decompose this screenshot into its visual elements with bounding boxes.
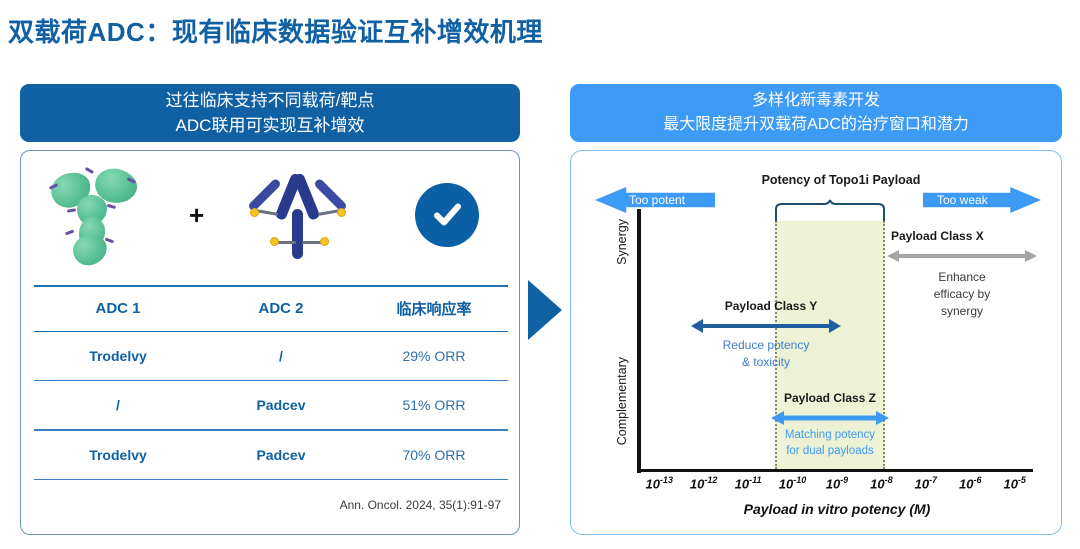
cell-adc1: Trodelvy bbox=[34, 348, 202, 364]
antibody-cell bbox=[224, 165, 373, 265]
x-tick-base: 10 bbox=[690, 476, 704, 491]
x-tick-exp: -9 bbox=[840, 475, 848, 485]
range-bracket-icon bbox=[774, 199, 886, 221]
table-header-response: 临床响应率 bbox=[360, 298, 508, 319]
cell-adc1: / bbox=[34, 397, 202, 413]
clinical-response-table: ADC 1 ADC 2 临床响应率 Trodelvy / 29% ORR / P… bbox=[34, 285, 508, 480]
x-axis-ticks: 10-13 10-12 10-11 10-10 10-9 10-8 10-7 1… bbox=[637, 475, 1037, 491]
x-tick-base: 10 bbox=[826, 476, 840, 491]
x-tick: 10-13 bbox=[637, 475, 681, 491]
x-tick-exp: -13 bbox=[660, 475, 673, 485]
right-panel-body: Potency of Topo1i Payload Too potent Too… bbox=[570, 150, 1062, 535]
payload-class-x-text: Enhance efficacy by synergy bbox=[887, 269, 1037, 320]
right-header-line2: 最大限度提升双载荷ADC的治疗窗口和潜力 bbox=[663, 113, 969, 137]
cell-adc1: Trodelvy bbox=[34, 447, 202, 463]
right-panel-header: 多样化新毒素开发 最大限度提升双载荷ADC的治疗窗口和潜力 bbox=[570, 84, 1062, 142]
page-title: 双载荷ADC：现有临床数据验证互补增效机理 bbox=[8, 12, 543, 49]
x-tick-base: 10 bbox=[870, 476, 884, 491]
x-tick-base: 10 bbox=[915, 476, 929, 491]
too-weak-label: Too weak bbox=[937, 193, 988, 207]
pcx-line1: Enhance bbox=[887, 269, 1037, 286]
antibody-icon bbox=[248, 165, 348, 265]
x-tick-base: 10 bbox=[779, 476, 793, 491]
cell-adc2: Padcev bbox=[202, 397, 360, 413]
pcx-line3: synergy bbox=[887, 303, 1037, 320]
x-tick: 10-11 bbox=[726, 475, 770, 491]
citation-text: Ann. Oncol. 2024, 35(1):91-97 bbox=[340, 498, 501, 512]
x-tick-base: 10 bbox=[735, 476, 749, 491]
cell-response: 29% ORR bbox=[360, 348, 508, 364]
left-panel-body: + bbox=[20, 150, 520, 535]
potency-chart: Potency of Topo1i Payload Too potent Too… bbox=[571, 151, 1061, 534]
x-tick-exp: -10 bbox=[793, 475, 806, 485]
x-tick: 10-12 bbox=[681, 475, 725, 491]
table-divider bbox=[34, 479, 508, 480]
x-tick-base: 10 bbox=[1003, 476, 1017, 491]
slide-root: 双载荷ADC：现有临床数据验证互补增效机理 过往临床支持不同载荷/靶点 ADC联… bbox=[0, 0, 1080, 549]
too-potent-label: Too potent bbox=[629, 193, 685, 207]
adc-molecule-cell bbox=[21, 165, 170, 265]
x-tick: 10-10 bbox=[770, 475, 814, 491]
x-tick-exp: -12 bbox=[704, 475, 717, 485]
check-cell bbox=[372, 183, 521, 247]
payload-class-z-label: Payload Class Z bbox=[775, 391, 885, 405]
table-row: / Padcev 51% ORR bbox=[34, 381, 508, 429]
check-circle-icon bbox=[415, 183, 479, 247]
x-tick-exp: -8 bbox=[885, 475, 893, 485]
x-tick-exp: -5 bbox=[1018, 475, 1026, 485]
pcy-line2: & toxicity bbox=[691, 354, 841, 371]
x-tick-base: 10 bbox=[645, 476, 659, 491]
flow-arrow-icon bbox=[528, 280, 562, 340]
payload-class-y-arrow bbox=[691, 319, 841, 333]
right-header-line1: 多样化新毒素开发 bbox=[752, 89, 880, 113]
payload-class-x-arrow bbox=[887, 249, 1037, 263]
too-weak-arrow: Too weak bbox=[923, 187, 1041, 213]
left-header-line2: ADC联用可实现互补增效 bbox=[176, 113, 365, 138]
payload-class-z-arrow bbox=[771, 411, 889, 425]
left-panel-header: 过往临床支持不同载荷/靶点 ADC联用可实现互补增效 bbox=[20, 84, 520, 142]
table-header-adc1: ADC 1 bbox=[34, 300, 202, 317]
pcx-line2: efficacy by bbox=[887, 286, 1037, 303]
x-tick: 10-7 bbox=[904, 475, 948, 491]
table-header-row: ADC 1 ADC 2 临床响应率 bbox=[34, 287, 508, 331]
adc-molecule-icon bbox=[49, 165, 141, 265]
cell-adc2: / bbox=[202, 348, 360, 364]
payload-class-z-text: Matching potency for dual payloads bbox=[769, 427, 891, 459]
payload-class-x-label: Payload Class X bbox=[891, 229, 984, 243]
x-tick: 10-8 bbox=[859, 475, 903, 491]
pcz-line1: Matching potency bbox=[769, 427, 891, 443]
x-tick-exp: -6 bbox=[974, 475, 982, 485]
x-tick-base: 10 bbox=[959, 476, 973, 491]
payload-class-y-label: Payload Class Y bbox=[701, 299, 841, 313]
y-axis-label-complementary: Complementary bbox=[615, 357, 629, 445]
cell-response: 70% ORR bbox=[360, 447, 508, 463]
y-axis bbox=[637, 209, 641, 473]
x-axis-title: Payload in vitro potency (M) bbox=[637, 501, 1037, 517]
x-tick: 10-9 bbox=[815, 475, 859, 491]
left-header-line1: 过往临床支持不同载荷/靶点 bbox=[166, 88, 375, 113]
table-row: Trodelvy / 29% ORR bbox=[34, 332, 508, 380]
y-axis-label-synergy: Synergy bbox=[615, 219, 629, 265]
x-tick-exp: -11 bbox=[749, 475, 761, 485]
chart-title: Potency of Topo1i Payload bbox=[751, 173, 931, 187]
x-tick: 10-5 bbox=[993, 475, 1037, 491]
pcy-line1: Reduce potency bbox=[691, 337, 841, 354]
table-header-adc2: ADC 2 bbox=[202, 300, 360, 317]
x-tick: 10-6 bbox=[948, 475, 992, 491]
table-row: Trodelvy Padcev 70% ORR bbox=[34, 431, 508, 479]
payload-class-y-text: Reduce potency & toxicity bbox=[691, 337, 841, 371]
cell-response: 51% ORR bbox=[360, 397, 508, 413]
pcz-line2: for dual payloads bbox=[769, 443, 891, 459]
plus-cell: + bbox=[170, 200, 224, 231]
molecule-row: + bbox=[21, 159, 521, 271]
x-tick-exp: -7 bbox=[929, 475, 937, 485]
too-potent-arrow: Too potent bbox=[595, 187, 715, 213]
plus-sign: + bbox=[189, 200, 204, 231]
cell-adc2: Padcev bbox=[202, 447, 360, 463]
x-axis bbox=[637, 469, 1033, 472]
